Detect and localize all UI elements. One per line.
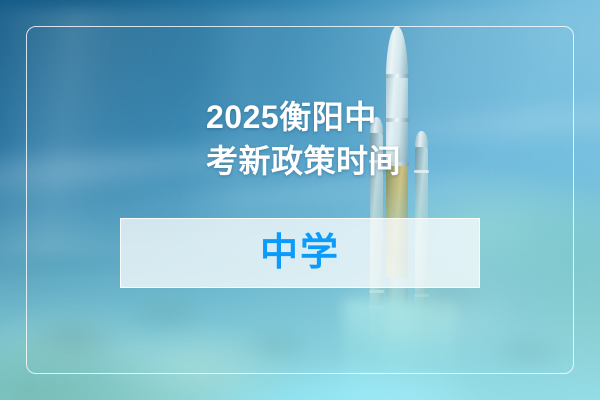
page-title: 2025衡阳中 考新政策时间 [206, 95, 446, 183]
banner-canvas: 2025衡阳中 考新政策时间 中学 [0, 0, 600, 400]
category-label: 中学 [260, 234, 340, 272]
category-bar[interactable]: 中学 [120, 218, 480, 288]
rocket-band [385, 74, 409, 78]
background-photo [0, 0, 600, 400]
